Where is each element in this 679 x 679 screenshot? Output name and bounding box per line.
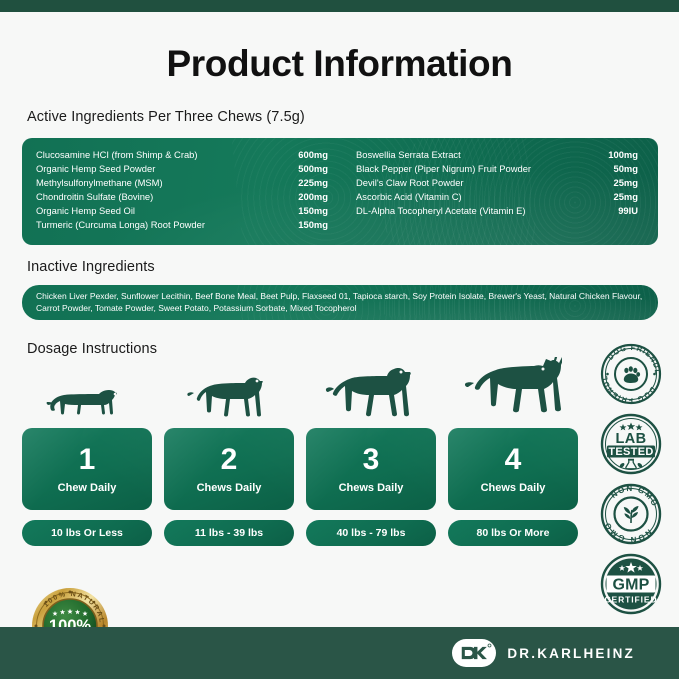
ingredient-name: DL-Alpha Tocopheryl Acetate (Vitamin E) xyxy=(356,204,526,218)
ingredient-amount: 25mg xyxy=(606,190,639,204)
ingredient-name: Chondroitin Sulfate (Bovine) xyxy=(36,190,153,204)
page-title: Product Information xyxy=(0,43,679,85)
dosage-label: Chew Daily xyxy=(58,482,117,494)
ingredient-row: Turmeric (Curcuma Longa) Root Powder 150… xyxy=(36,218,328,232)
svg-text:LAB: LAB xyxy=(615,431,646,447)
large-dog-silhouette-icon xyxy=(306,358,436,428)
active-ingredients-heading: Active Ingredients Per Three Chews (7.5g… xyxy=(27,109,305,125)
svg-text:TESTED: TESTED xyxy=(608,446,653,458)
weight-range-pill: 80 lbs Or More xyxy=(448,520,578,546)
dosage-label: Chews Daily xyxy=(197,482,262,494)
dosage-card-4[interactable]: 4 Chews Daily xyxy=(448,428,578,510)
ingredient-name: Organic Hemp Seed Powder xyxy=(36,162,155,176)
ingredient-name: Methylsulfonylmethane (MSM) xyxy=(36,176,163,190)
svg-text:CERTIFIED: CERTIFIED xyxy=(605,595,658,605)
dosage-grid: 1 Chew Daily 10 lbs Or Less 2 Chews Dail… xyxy=(22,358,578,546)
ingredient-amount: 100mg xyxy=(600,148,638,162)
medium-dog-silhouette-icon xyxy=(164,358,294,428)
ingredient-amount: 150mg xyxy=(290,204,328,218)
ingredient-name: Boswellia Serrata Extract xyxy=(356,148,461,162)
ingredient-amount: 600mg xyxy=(290,148,328,162)
ingredient-amount: 200mg xyxy=(290,190,328,204)
active-ingredients-panel: Clucosamine HCI (from Shimp & Crab) 600m… xyxy=(22,138,658,245)
dosage-number: 4 xyxy=(505,445,522,475)
ingredient-name: Black Pepper (Piper Nigrum) Fruit Powder xyxy=(356,162,531,176)
weight-range-pill: 40 lbs - 79 lbs xyxy=(306,520,436,546)
dosage-card-3[interactable]: 3 Chews Daily xyxy=(306,428,436,510)
svg-text:GMP: GMP xyxy=(612,577,649,594)
ingredient-amount: 150mg xyxy=(290,218,328,232)
brand-lockup: DR.KARLHEINZ xyxy=(452,639,635,667)
dosage-card-2[interactable]: 2 Chews Daily xyxy=(164,428,294,510)
active-ingredients-left-column: Clucosamine HCI (from Shimp & Crab) 600m… xyxy=(36,148,338,231)
ingredient-row: Black Pepper (Piper Nigrum) Fruit Powder… xyxy=(356,162,638,176)
ingredient-row: Organic Hemp Seed Powder 500mg xyxy=(36,162,328,176)
dosage-number: 3 xyxy=(363,445,380,475)
top-brand-bar xyxy=(0,0,679,12)
ingredient-amount: 25mg xyxy=(606,176,639,190)
active-ingredients-right-column: Boswellia Serrata Extract 100mg Black Pe… xyxy=(338,148,640,231)
ingredient-amount: 50mg xyxy=(606,162,639,176)
dog-friendly-badge-icon: DOG FRIENDLY DOG FRIENDLY xyxy=(599,342,663,406)
doberman-silhouette-icon xyxy=(448,358,578,428)
ingredient-name: Turmeric (Curcuma Longa) Root Powder xyxy=(36,218,205,232)
ingredient-name: Organic Hemp Seed Oil xyxy=(36,204,135,218)
dosage-label: Chews Daily xyxy=(481,482,546,494)
ingredient-name: Clucosamine HCI (from Shimp & Crab) xyxy=(36,148,198,162)
weight-range-pill: 10 lbs Or Less xyxy=(22,520,152,546)
dachshund-silhouette-icon xyxy=(22,358,152,428)
ingredient-row: DL-Alpha Tocopheryl Acetate (Vitamin E) … xyxy=(356,204,638,218)
inactive-ingredients-panel: Chicken Liver Pexder, Sunflower Lecithin… xyxy=(22,285,658,320)
dosage-number: 1 xyxy=(79,445,96,475)
dosage-instructions-heading: Dosage Instructions xyxy=(27,341,157,357)
dosage-column-4: 4 Chews Daily 80 lbs Or More xyxy=(448,358,578,546)
ingredient-row: Methylsulfonylmethane (MSM) 225mg xyxy=(36,176,328,190)
ingredient-row: Devil's Claw Root Powder 25mg xyxy=(356,176,638,190)
footer-brand-bar: DR.KARLHEINZ xyxy=(0,627,679,679)
gmp-certified-badge-icon: GMP CERTIFIED xyxy=(599,552,663,616)
ingredient-name: Ascorbic Acid (Vitamin C) xyxy=(356,190,462,204)
ingredient-row: Chondroitin Sulfate (Bovine) 200mg xyxy=(36,190,328,204)
ingredient-amount: 500mg xyxy=(290,162,328,176)
dosage-column-1: 1 Chew Daily 10 lbs Or Less xyxy=(22,358,152,546)
non-gmo-badge-icon: NON GMO NON GMO xyxy=(599,482,663,546)
ingredient-row: Boswellia Serrata Extract 100mg xyxy=(356,148,638,162)
svg-text:NON GMO: NON GMO xyxy=(603,520,654,544)
ingredient-amount: 99IU xyxy=(610,204,638,218)
brand-name: DR.KARLHEINZ xyxy=(507,646,635,661)
inactive-ingredients-text: Chicken Liver Pexder, Sunflower Lecithin… xyxy=(22,285,658,320)
weight-range-pill: 11 lbs - 39 lbs xyxy=(164,520,294,546)
inactive-ingredients-heading: Inactive Ingredients xyxy=(27,259,155,275)
dosage-card-1[interactable]: 1 Chew Daily xyxy=(22,428,152,510)
ingredient-amount: 225mg xyxy=(290,176,328,190)
ingredient-row: Clucosamine HCI (from Shimp & Crab) 600m… xyxy=(36,148,328,162)
dk-monogram-icon xyxy=(452,639,496,667)
ingredient-row: Ascorbic Acid (Vitamin C) 25mg xyxy=(356,190,638,204)
certification-badges: DOG FRIENDLY DOG FRIENDLY xyxy=(593,342,669,616)
ingredient-name: Devil's Claw Root Powder xyxy=(356,176,464,190)
lab-tested-badge-icon: LAB TESTED xyxy=(599,412,663,476)
dosage-column-2: 2 Chews Daily 11 lbs - 39 lbs xyxy=(164,358,294,546)
ingredient-row: Organic Hemp Seed Oil 150mg xyxy=(36,204,328,218)
dosage-column-3: 3 Chews Daily 40 lbs - 79 lbs xyxy=(306,358,436,546)
dosage-label: Chews Daily xyxy=(339,482,404,494)
dosage-number: 2 xyxy=(221,445,238,475)
